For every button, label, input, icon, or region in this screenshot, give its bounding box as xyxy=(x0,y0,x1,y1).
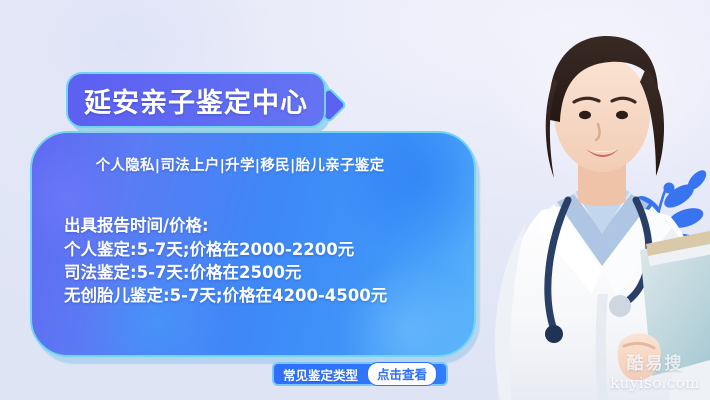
watermark-cn: 酷易搜 xyxy=(610,354,700,374)
page-title: 延安亲子鉴定中心 xyxy=(84,81,308,120)
price-block: 出具报告时间/价格: 个人鉴定:5-7天;价格在2000-2200元 司法鉴定:… xyxy=(64,214,387,307)
service-subtitle: 个人隐私|司法上户|升学|移民|胎儿亲子鉴定 xyxy=(0,154,480,175)
view-details-label: 点击查看 xyxy=(377,364,427,383)
view-details-button[interactable]: 点击查看 xyxy=(367,362,437,386)
watermark: 酷易搜 kuyiso.com xyxy=(610,354,700,392)
watermark-en: kuyiso.com xyxy=(610,374,700,392)
title-badge: 延安亲子鉴定中心 xyxy=(66,72,326,128)
banner-canvas: 延安亲子鉴定中心 个人隐私|司法上户|升学|移民|胎儿亲子鉴定 出具报告时间/价… xyxy=(0,0,710,400)
price-line-personal: 个人鉴定:5-7天;价格在2000-2200元 xyxy=(64,238,387,261)
bottom-bar-label: 常见鉴定类型 xyxy=(283,365,358,384)
bottom-action-bar[interactable]: 常见鉴定类型 点击查看 xyxy=(272,362,448,386)
price-line-prenatal: 无创胎儿鉴定:5-7天;价格在4200-4500元 xyxy=(64,284,387,307)
price-line-judicial: 司法鉴定:5-7天:价格在2500元 xyxy=(64,261,387,284)
price-heading: 出具报告时间/价格: xyxy=(64,214,387,238)
